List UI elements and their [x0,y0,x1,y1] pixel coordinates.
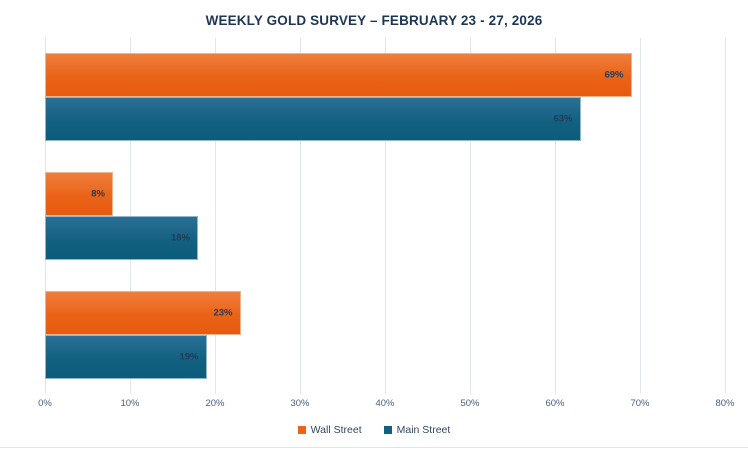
x-tick-40%: 40% [375,398,394,409]
footer-divider [0,447,748,448]
x-tick-60%: 60% [545,398,564,409]
legend-item-wall-street[interactable]: Wall Street [298,424,362,436]
bar-bullish-main-street[interactable]: 63% [45,97,581,141]
bar-neutral-wall-street[interactable]: 23% [45,291,241,335]
weekly-gold-survey-chart: WEEKLY GOLD SURVEY – FEBRUARY 23 - 27, 2… [0,0,748,455]
x-tick-80%: 80% [715,398,734,409]
chart-legend: Wall StreetMain Street [0,424,748,436]
bar-neutral-main-street[interactable]: 19% [45,335,207,379]
legend-label: Wall Street [311,424,362,436]
bar-value-label: 69% [604,70,623,81]
bar-value-label: 8% [91,188,105,199]
x-tick-10%: 10% [120,398,139,409]
bar-value-label: 18% [171,232,190,243]
legend-label: Main Street [397,424,451,436]
x-tick-70%: 70% [630,398,649,409]
bar-bullish-wall-street[interactable]: 69% [45,53,632,97]
chart-title: WEEKLY GOLD SURVEY – FEBRUARY 23 - 27, 2… [0,13,748,28]
category-group-neutral: 23%19%Neutral [45,275,725,394]
bar-bearish-main-street[interactable]: 18% [45,216,198,260]
bar-value-label: 63% [553,114,572,125]
legend-item-main-street[interactable]: Main Street [384,424,451,436]
bar-value-label: 23% [213,307,232,318]
plot-area: 69%63%Bullish8%18%Bearish23%19%Neutral [45,38,725,394]
legend-swatch-wall-street [298,426,306,434]
x-tick-50%: 50% [460,398,479,409]
gridline-80% [725,38,726,394]
bar-value-label: 19% [179,351,198,362]
legend-swatch-main-street [384,426,392,434]
bar-bearish-wall-street[interactable]: 8% [45,172,113,216]
category-group-bearish: 8%18%Bearish [45,157,725,276]
category-group-bullish: 69%63%Bullish [45,38,725,157]
x-tick-30%: 30% [290,398,309,409]
x-tick-20%: 20% [205,398,224,409]
x-tick-0%: 0% [38,398,52,409]
